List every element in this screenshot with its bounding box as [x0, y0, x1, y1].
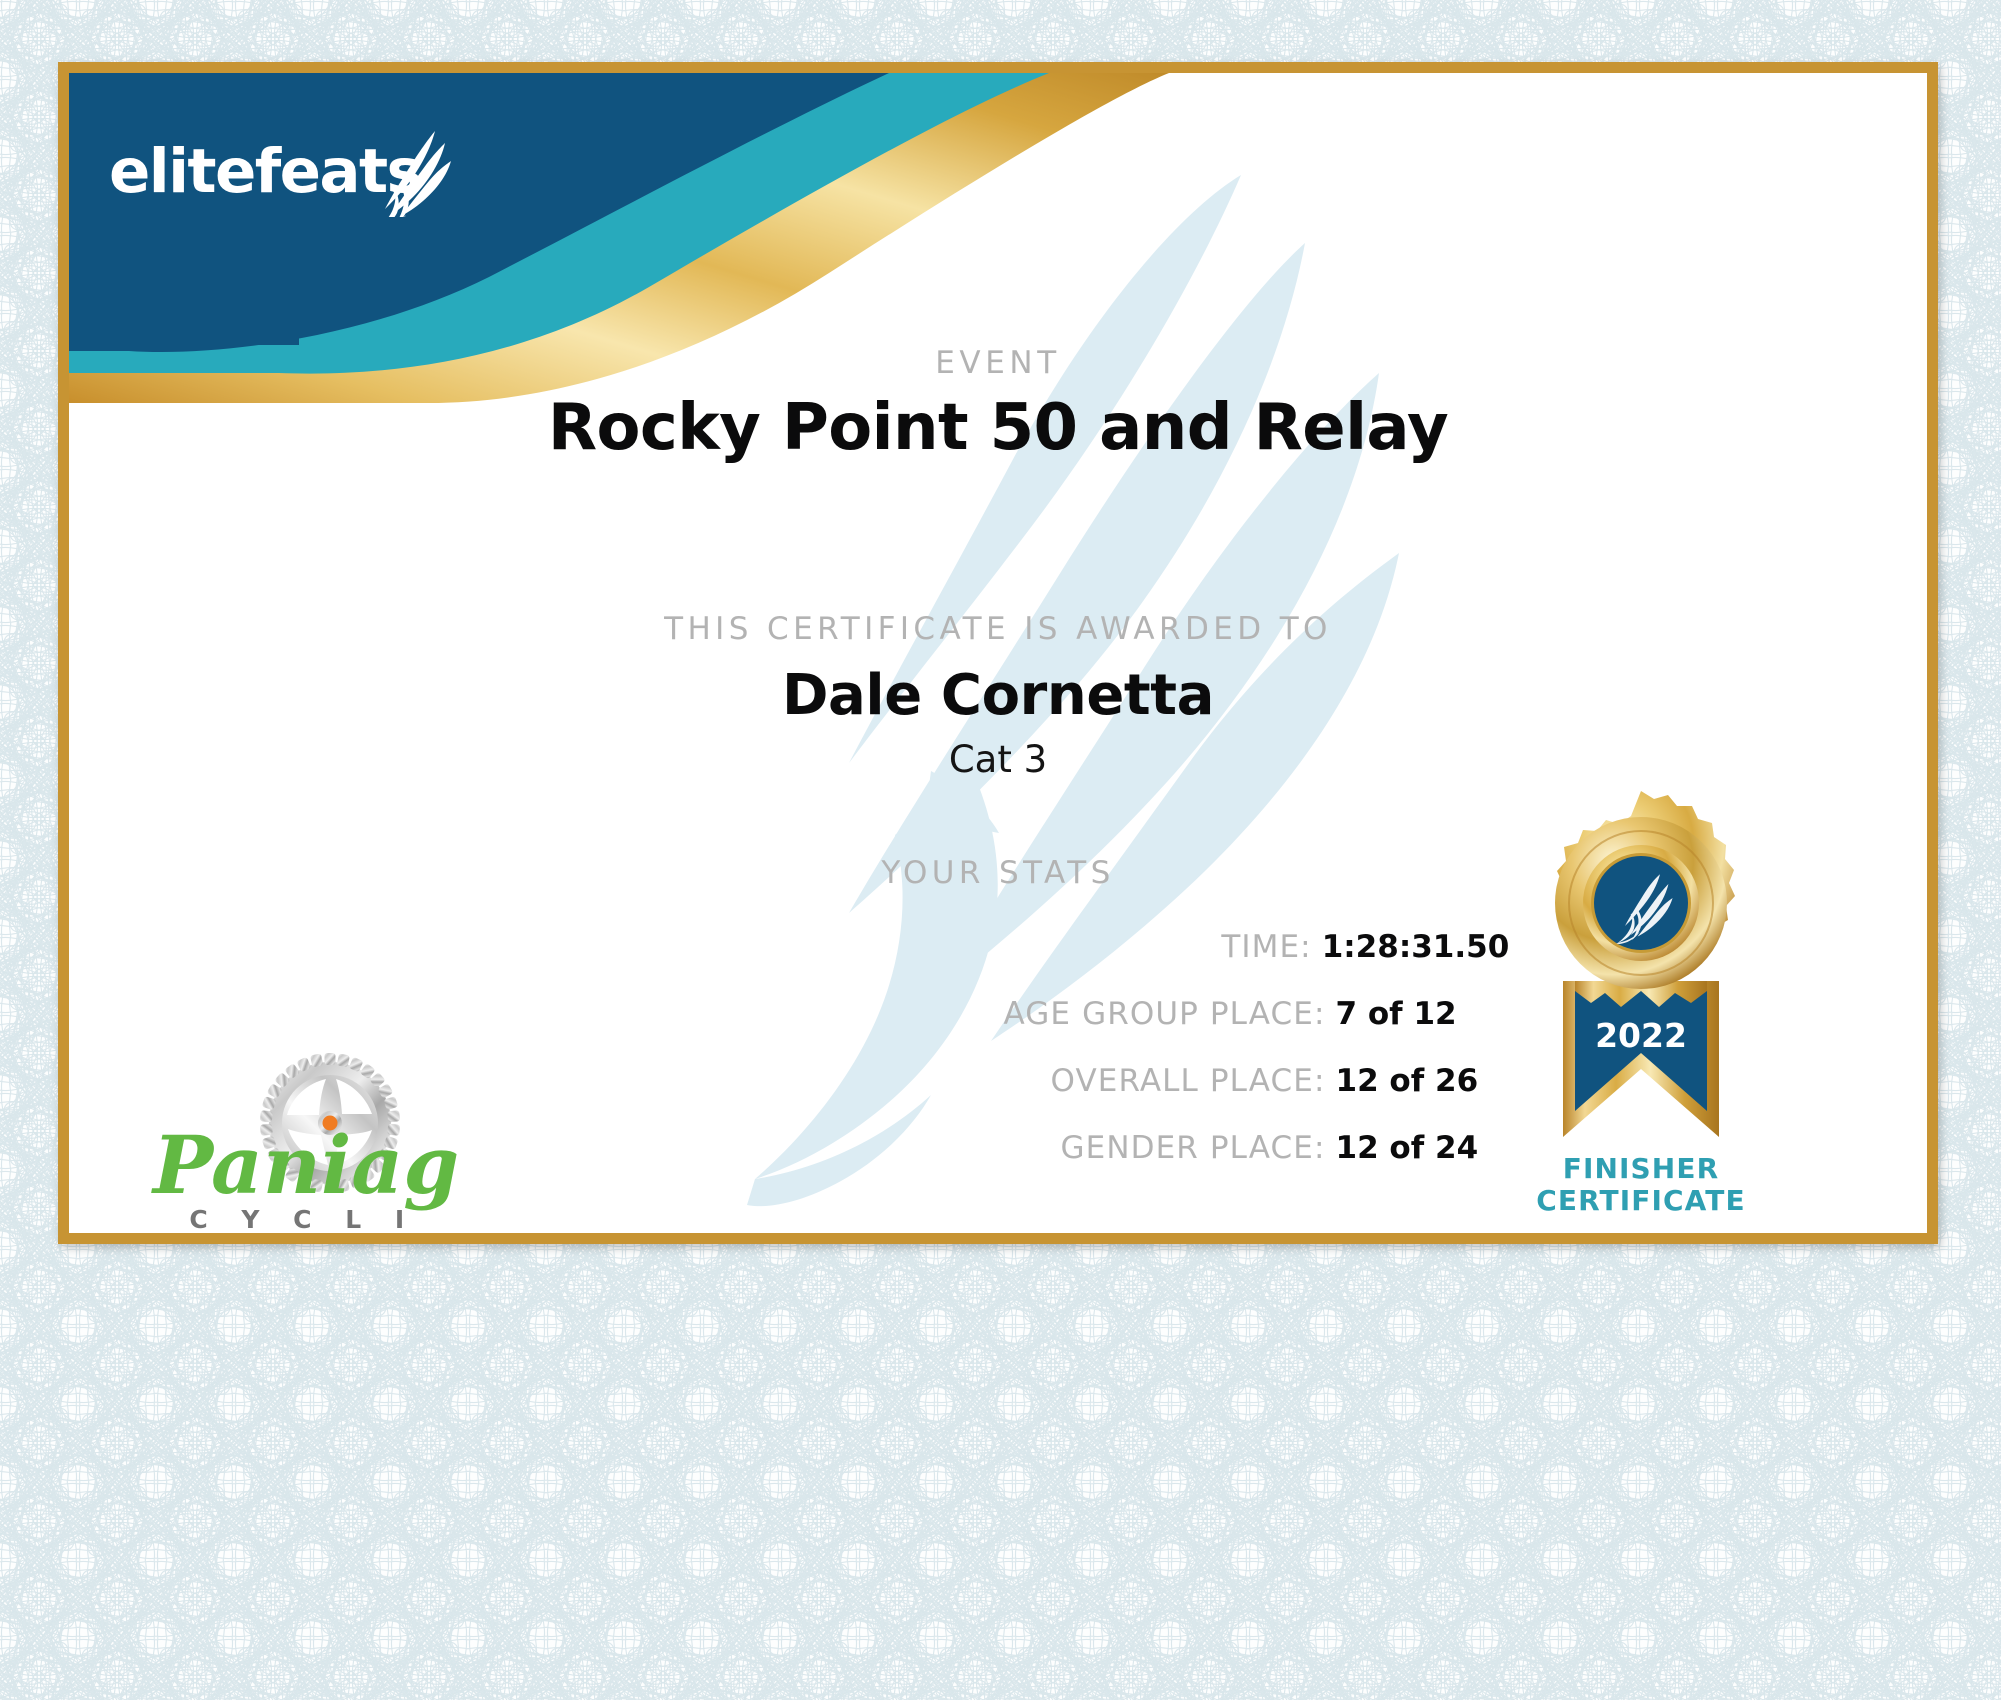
- medal-caption-line1: FINISHER: [1563, 1152, 1719, 1185]
- stat-value: 7 of 12: [1336, 996, 1496, 1032]
- event-name: Rocky Point 50 and Relay: [69, 391, 1927, 465]
- event-label: EVENT: [69, 345, 1927, 381]
- stat-key: GENDER PLACE:: [501, 1130, 1326, 1166]
- certificate-inner: elitefeats EVENT Rocky Point 50 and Rela…: [69, 73, 1927, 1233]
- award-ribbon-icon: 2022: [1501, 785, 1781, 1155]
- stat-key: AGE GROUP PLACE:: [501, 996, 1326, 1032]
- stat-key: TIME:: [487, 929, 1312, 965]
- sponsor-logo-paniagua-cycling: Paniagua C Y C L I N G LONG ISLAND NY: [147, 1045, 459, 1233]
- sponsor-script-text: Paniagua: [151, 1118, 459, 1212]
- medal-caption: FINISHER CERTIFICATE: [1485, 1153, 1797, 1218]
- awarded-to-label: THIS CERTIFICATE IS AWARDED TO: [69, 611, 1927, 647]
- stat-value: 12 of 24: [1336, 1130, 1496, 1166]
- finisher-medal-badge: 2022 FINISHER CERTIFICATE: [1501, 785, 1781, 1225]
- sponsor-subtitle: C Y C L I N G: [175, 1205, 431, 1233]
- stat-value: 1:28:31.50: [1322, 929, 1510, 965]
- recipient-category: Cat 3: [69, 738, 1927, 781]
- medal-year-text: 2022: [1595, 1016, 1687, 1055]
- recipient-name: Dale Cornetta: [69, 663, 1927, 728]
- certificate-page: elitefeats EVENT Rocky Point 50 and Rela…: [0, 0, 2001, 1700]
- chainring-and-script-graphic: Paniagua: [147, 1045, 459, 1230]
- certificate-plate: elitefeats EVENT Rocky Point 50 and Rela…: [58, 62, 1938, 1244]
- stat-key: OVERALL PLACE:: [501, 1063, 1326, 1099]
- medal-caption-line2: CERTIFICATE: [1536, 1184, 1745, 1217]
- stat-value: 12 of 26: [1336, 1063, 1496, 1099]
